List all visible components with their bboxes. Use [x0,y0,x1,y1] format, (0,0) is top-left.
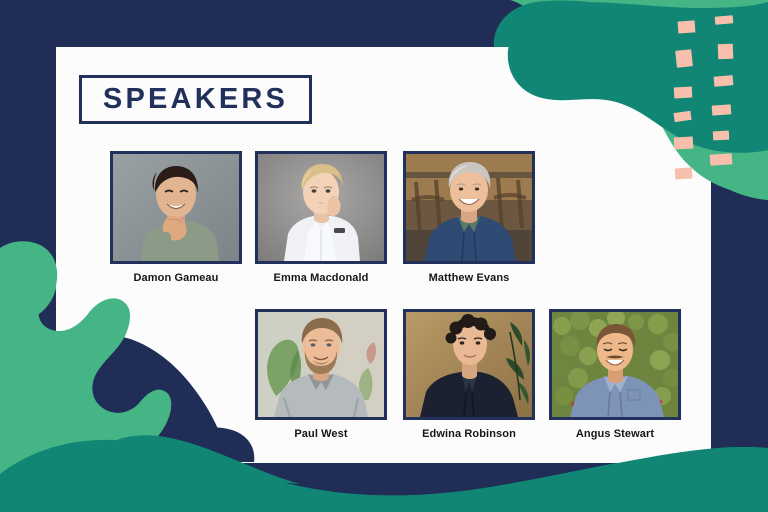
page-title: SPEAKERS [103,85,288,114]
slide-card: SPEAKERS [56,47,711,463]
speaker-card-matthew-evans[interactable]: Matthew Evans [403,151,535,284]
speaker-name-matthew-evans: Matthew Evans [403,272,535,284]
speaker-photo-emma-macdonald[interactable] [255,151,387,264]
speaker-card-emma-macdonald[interactable]: Emma Macdonald [255,151,387,284]
speaker-photo-damon-gameau[interactable] [110,151,242,264]
speakers-slide: SPEAKERS [0,0,768,512]
speaker-name-emma-macdonald: Emma Macdonald [255,272,387,284]
speaker-photo-edwina-robinson[interactable] [403,309,535,420]
page-title-box: SPEAKERS [79,75,312,124]
speaker-photo-angus-stewart[interactable] [549,309,681,420]
speaker-card-edwina-robinson[interactable]: Edwina Robinson [403,309,535,440]
speaker-photo-paul-west[interactable] [255,309,387,420]
speaker-card-paul-west[interactable]: Paul West [255,309,387,440]
speaker-name-angus-stewart: Angus Stewart [549,428,681,440]
speaker-name-edwina-robinson: Edwina Robinson [403,428,535,440]
speaker-card-damon-gameau[interactable]: Damon Gameau [110,151,242,284]
speaker-photo-matthew-evans[interactable] [403,151,535,264]
speaker-card-angus-stewart[interactable]: Angus Stewart [549,309,681,440]
speaker-name-paul-west: Paul West [255,428,387,440]
speaker-name-damon-gameau: Damon Gameau [110,272,242,284]
